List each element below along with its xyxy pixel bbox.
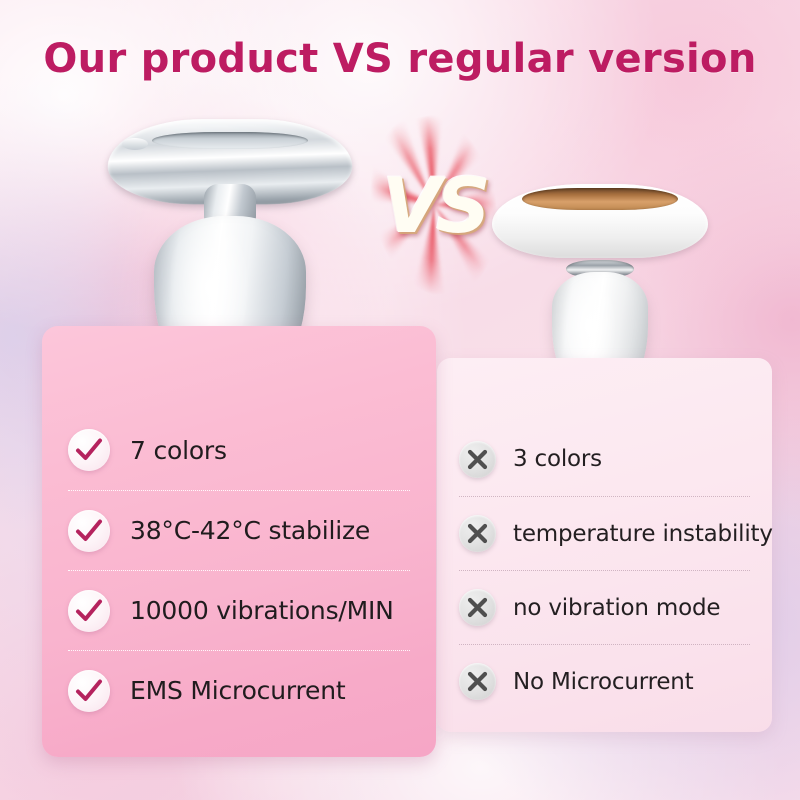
list-item-label: EMS Microcurrent [130,676,345,705]
list-item-label: No Microcurrent [513,669,693,695]
list-item: EMS Microcurrent [68,650,410,730]
list-item-label: 7 colors [130,436,227,465]
check-icon [68,590,110,632]
our-product-feature-card: 7 colors 38°C-42°C stabilize 10000 vibra… [42,326,436,757]
list-item: no vibration mode [459,570,750,644]
check-icon [68,429,110,471]
list-item-label: 38°C-42°C stabilize [130,516,370,545]
page-title: Our product VS regular version [0,36,800,82]
list-item-label: no vibration mode [513,595,720,621]
versus-label: VS [368,134,500,276]
regular-version-feature-list: 3 colors temperature instability no vibr… [437,358,772,718]
list-item: 7 colors [68,410,410,490]
list-item-label: temperature instability [513,521,773,547]
device-head-notch [122,138,148,150]
list-item-label: 3 colors [513,446,602,472]
device-gold-panel [522,188,678,210]
list-item: 38°C-42°C stabilize [68,490,410,570]
versus-badge: VS [368,134,500,276]
comparison-infographic: Our product VS regular version VS [0,0,800,800]
regular-version-feature-card: 3 colors temperature instability no vibr… [437,358,772,732]
list-item-label: 10000 vibrations/MIN [130,596,394,625]
our-product-feature-list: 7 colors 38°C-42°C stabilize 10000 vibra… [42,326,436,730]
check-icon [68,670,110,712]
device-head-groove [152,132,308,149]
check-icon [68,510,110,552]
list-item: 10000 vibrations/MIN [68,570,410,650]
cross-icon [459,441,496,478]
cross-icon [459,589,496,626]
cross-icon [459,515,496,552]
list-item: 3 colors [459,422,750,496]
list-item: No Microcurrent [459,644,750,718]
cross-icon [459,663,496,700]
list-item: temperature instability [459,496,750,570]
